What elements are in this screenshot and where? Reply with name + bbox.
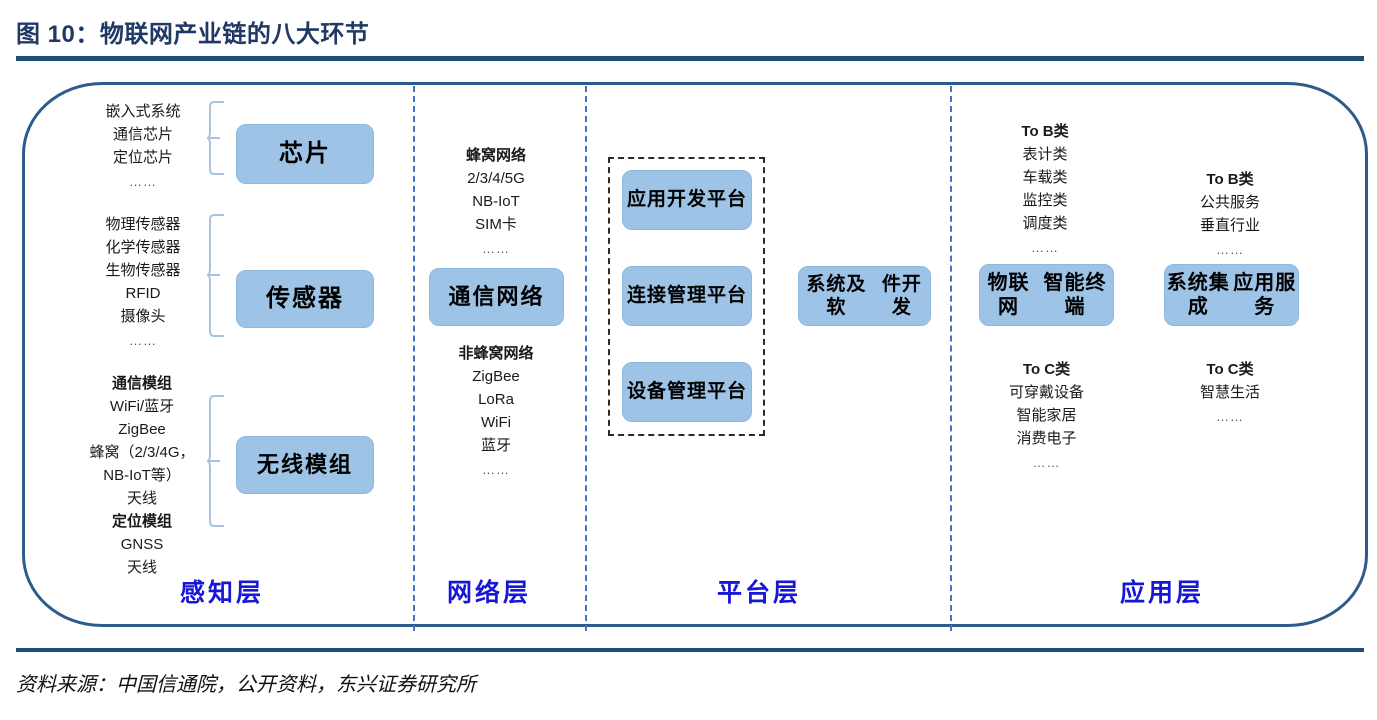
text-line: LoRa	[432, 388, 560, 411]
perception-group3-text: 通信模组 WiFi/蓝牙 ZigBee 蜂窝（2/3/4G， NB-IoT等） …	[66, 372, 218, 579]
text-line: 智能家居	[975, 404, 1118, 427]
ellipsis-marker: ……	[78, 169, 208, 195]
diagram-canvas: 图 10：物联网产业链的八大环节 嵌入式系统 通信芯片 定位芯片 …… 芯片 物…	[0, 0, 1377, 720]
box-app-development-platform[interactable]: 应用开发平台	[622, 170, 752, 230]
text-line: 蜂窝网络	[432, 144, 560, 167]
text-line: SIM卡	[432, 213, 560, 236]
text-line: 物理传感器	[78, 213, 208, 236]
text-line: 智慧生活	[1170, 381, 1290, 404]
box-sensor[interactable]: 传感器	[236, 270, 374, 328]
ellipsis-marker: ……	[985, 235, 1105, 261]
ellipsis-marker: ……	[1170, 237, 1290, 263]
brace-chip	[206, 100, 236, 176]
application-service-tob-text: To B类 公共服务 垂直行业 ……	[1170, 168, 1290, 263]
text-line: 可穿戴设备	[975, 381, 1118, 404]
brace-wireless-module	[206, 394, 236, 528]
text-line: 生物传感器	[78, 259, 208, 282]
text-line: WiFi/蓝牙	[66, 395, 218, 418]
source-note: 资料来源：中国信通院，公开资料，东兴证券研究所	[16, 668, 476, 697]
application-terminal-toc-text: To C类 可穿戴设备 智能家居 消费电子 ……	[975, 358, 1118, 476]
text-line: To B类	[985, 120, 1105, 143]
text-line: 嵌入式系统	[78, 100, 208, 123]
text-line: 通信芯片	[78, 123, 208, 146]
ellipsis-marker: ……	[975, 450, 1118, 476]
network-noncellular-text: 非蜂窝网络 ZigBee LoRa WiFi 蓝牙 ……	[432, 342, 560, 483]
text-line: NB-IoT等）	[66, 464, 218, 487]
ellipsis-marker: ……	[78, 328, 208, 354]
text-line: To B类	[1170, 168, 1290, 191]
text-line: 监控类	[985, 189, 1105, 212]
text-line: 定位模组	[66, 510, 218, 533]
text-line: 蜂窝（2/3/4G，	[66, 441, 218, 464]
box-iot-smart-terminal[interactable]: 物联网智能终端	[979, 264, 1114, 326]
layer-label-platform: 平台层	[717, 573, 801, 609]
ellipsis-marker: ……	[432, 236, 560, 262]
text-line: 车载类	[985, 166, 1105, 189]
text-line: 化学传感器	[78, 236, 208, 259]
text-line: To C类	[1170, 358, 1290, 381]
box-connection-management-platform[interactable]: 连接管理平台	[622, 266, 752, 326]
perception-group1-text: 嵌入式系统 通信芯片 定位芯片 ……	[78, 100, 208, 195]
text-line: 蓝牙	[432, 434, 560, 457]
ellipsis-marker: ……	[1170, 404, 1290, 430]
box-device-management-platform[interactable]: 设备管理平台	[622, 362, 752, 422]
title-divider-rule	[16, 56, 1364, 61]
text-line: NB-IoT	[432, 190, 560, 213]
brace-sensor	[206, 213, 236, 338]
application-terminal-tob-text: To B类 表计类 车载类 监控类 调度类 ……	[985, 120, 1105, 261]
box-system-software-development[interactable]: 系统及软件开发	[798, 266, 931, 326]
text-line: 2/3/4/5G	[432, 167, 560, 190]
application-service-toc-text: To C类 智慧生活 ……	[1170, 358, 1290, 430]
text-line: 调度类	[985, 212, 1105, 235]
text-line: To C类	[975, 358, 1118, 381]
perception-group2-text: 物理传感器 化学传感器 生物传感器 RFID 摄像头 ……	[78, 213, 208, 354]
layer-divider-network-platform	[585, 86, 587, 631]
text-line: 通信模组	[66, 372, 218, 395]
box-communication-network[interactable]: 通信网络	[429, 268, 564, 326]
layer-divider-perception-network	[413, 86, 415, 631]
text-line: GNSS	[66, 533, 218, 556]
text-line: RFID	[78, 282, 208, 305]
text-line: 表计类	[985, 143, 1105, 166]
text-line: ZigBee	[432, 365, 560, 388]
text-line: 摄像头	[78, 305, 208, 328]
text-line: WiFi	[432, 411, 560, 434]
footer-divider-rule	[16, 648, 1364, 652]
layer-label-application: 应用层	[1120, 573, 1204, 609]
page-title: 图 10：物联网产业链的八大环节	[16, 14, 369, 49]
layer-label-perception: 感知层	[180, 573, 264, 609]
text-line: 垂直行业	[1170, 214, 1290, 237]
text-line: 天线	[66, 487, 218, 510]
text-line: 公共服务	[1170, 191, 1290, 214]
layer-label-network: 网络层	[447, 573, 531, 609]
box-chip[interactable]: 芯片	[236, 124, 374, 184]
ellipsis-marker: ……	[432, 457, 560, 483]
text-line: 非蜂窝网络	[432, 342, 560, 365]
layer-divider-platform-application	[950, 86, 952, 631]
box-wireless-module[interactable]: 无线模组	[236, 436, 374, 494]
text-line: 定位芯片	[78, 146, 208, 169]
text-line: ZigBee	[66, 418, 218, 441]
network-cellular-text: 蜂窝网络 2/3/4/5G NB-IoT SIM卡 ……	[432, 144, 560, 262]
text-line: 消费电子	[975, 427, 1118, 450]
box-system-integration-application-service[interactable]: 系统集成应用服务	[1164, 264, 1299, 326]
